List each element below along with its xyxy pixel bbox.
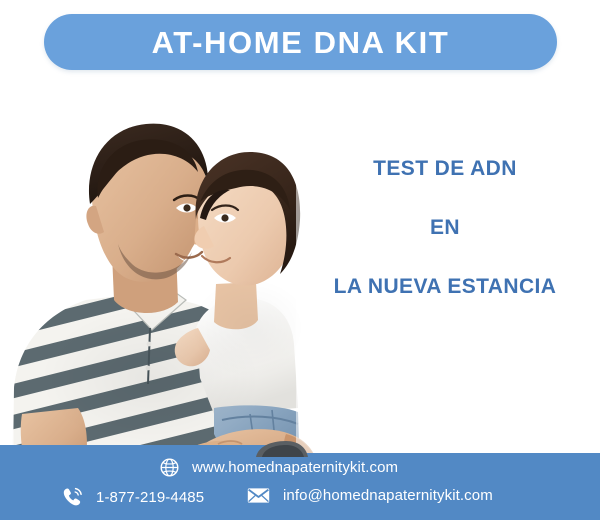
headline-line-3: LA NUEVA ESTANCIA [300, 276, 590, 297]
phone-icon [62, 487, 83, 507]
poster-canvas: AT-HOME DNA KIT [0, 0, 600, 520]
footer-email-row[interactable]: info@homednapaternitykit.com [247, 487, 493, 504]
footer-phone-row[interactable]: 1-877-219-4485 [62, 487, 204, 507]
header-banner: AT-HOME DNA KIT [44, 14, 557, 70]
globe-icon [160, 458, 179, 477]
photo-foot-overlay [252, 441, 308, 457]
footer-phone-label: 1-877-219-4485 [96, 489, 204, 506]
family-photo [0, 78, 320, 468]
footer-website-label: www.homednapaternitykit.com [192, 459, 398, 476]
headline-line-2: EN [300, 217, 590, 238]
headline-block: TEST DE ADN EN LA NUEVA ESTANCIA [300, 158, 590, 297]
headline-line-1: TEST DE ADN [300, 158, 590, 179]
envelope-icon [247, 487, 270, 504]
footer-email-label: info@homednapaternitykit.com [283, 487, 493, 504]
header-title: AT-HOME DNA KIT [152, 27, 450, 58]
footer-website-row[interactable]: www.homednapaternitykit.com [160, 458, 398, 477]
